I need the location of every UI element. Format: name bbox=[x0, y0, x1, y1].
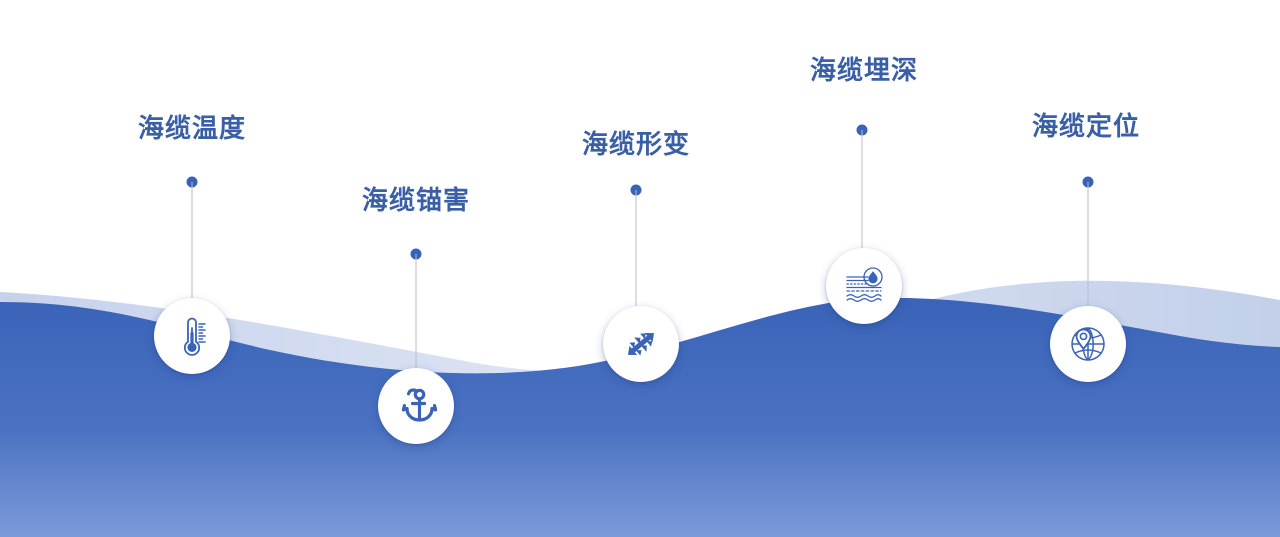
node-stem-cable-temperature bbox=[192, 182, 193, 298]
node-stem-cable-deformation bbox=[636, 190, 637, 306]
deformation-arrow-icon bbox=[618, 321, 664, 367]
node-label-cable-burial-depth: 海缆埋深 bbox=[810, 58, 918, 84]
node-icon-circle-cable-anchor-damage[interactable] bbox=[378, 368, 454, 444]
node-icon-circle-cable-positioning[interactable] bbox=[1050, 306, 1126, 382]
infographic-canvas: 海缆温度 bbox=[0, 0, 1280, 537]
node-label-cable-positioning: 海缆定位 bbox=[1032, 114, 1140, 140]
node-stem-cable-anchor-damage bbox=[416, 254, 417, 368]
seabed-layers-droplet-icon bbox=[841, 263, 887, 309]
node-label-cable-anchor-damage: 海缆锚害 bbox=[362, 188, 470, 214]
node-icon-circle-cable-temperature[interactable] bbox=[154, 298, 230, 374]
node-icon-circle-cable-deformation[interactable] bbox=[603, 306, 679, 382]
node-stem-cable-burial-depth bbox=[862, 130, 863, 248]
node-label-cable-deformation: 海缆形变 bbox=[582, 132, 690, 158]
node-label-cable-temperature: 海缆温度 bbox=[138, 116, 246, 142]
node-stem-cable-positioning bbox=[1088, 182, 1089, 306]
thermometer-icon bbox=[170, 314, 214, 358]
globe-pin-icon bbox=[1065, 321, 1111, 367]
anchor-icon bbox=[394, 384, 438, 428]
node-icon-circle-cable-burial-depth[interactable] bbox=[826, 248, 902, 324]
